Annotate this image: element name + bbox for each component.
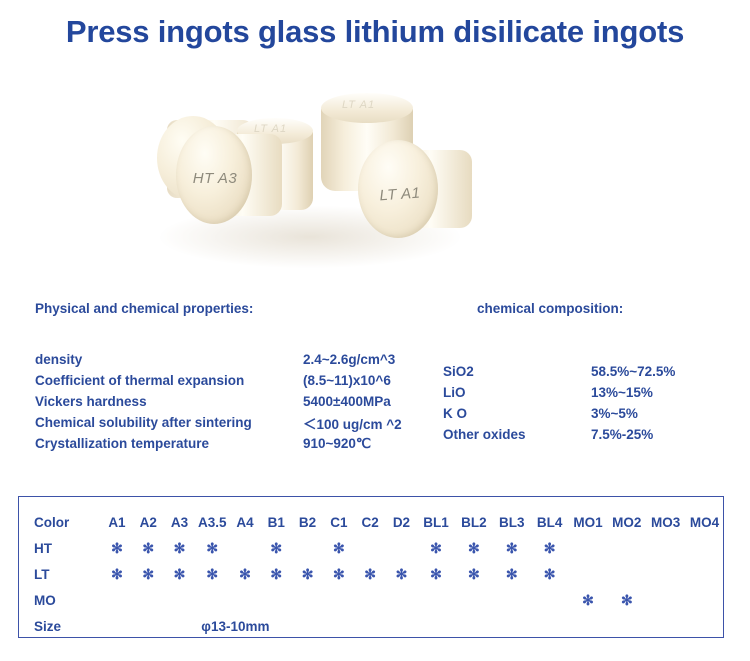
color-row-label-ht: HT <box>30 535 101 561</box>
asterisk-icon: ✻ <box>239 566 251 582</box>
table-row: density 2.4~2.6g/cm^3 <box>35 349 402 370</box>
availability-empty <box>646 587 685 613</box>
color-row-label-mo: MO <box>30 587 101 613</box>
availability-mark: ✻ <box>455 535 493 561</box>
properties-table: density 2.4~2.6g/cm^3 Coefficient of the… <box>35 349 402 454</box>
asterisk-icon: ✻ <box>364 566 376 582</box>
availability-empty <box>685 587 724 613</box>
color-column-header-mo2: MO2 <box>607 509 646 535</box>
availability-mark: ✻ <box>531 535 569 561</box>
availability-empty <box>355 587 386 613</box>
color-row-label-lt: LT <box>30 561 101 587</box>
availability-mark: ✻ <box>292 561 323 587</box>
color-column-header-b1: B1 <box>261 509 292 535</box>
availability-empty <box>493 587 531 613</box>
asterisk-icon: ✻ <box>468 566 480 582</box>
table-row: Other oxides 7.5%-25% <box>443 424 675 445</box>
availability-empty <box>569 535 608 561</box>
availability-mark: ✻ <box>101 535 132 561</box>
asterisk-icon: ✻ <box>206 540 218 556</box>
color-column-header-b2: B2 <box>292 509 323 535</box>
availability-mark: ✻ <box>229 561 260 587</box>
composition-heading: chemical composition: <box>477 301 623 316</box>
availability-empty <box>164 587 195 613</box>
property-name: Coefficient of thermal expansion <box>35 370 303 391</box>
asterisk-icon: ✻ <box>174 566 186 582</box>
composition-name: Other oxides <box>443 424 591 445</box>
asterisk-icon: ✻ <box>544 540 556 556</box>
availability-empty <box>531 587 569 613</box>
availability-mark: ✻ <box>195 535 229 561</box>
table-row: Vickers hardness 5400±400MPa <box>35 391 402 412</box>
table-row: K O 3%~5% <box>443 403 675 424</box>
color-column-header-a2: A2 <box>133 509 164 535</box>
composition-value: 58.5%~72.5% <box>591 361 675 382</box>
asterisk-icon: ✻ <box>270 566 282 582</box>
ingot-lt-a1: LT A1 <box>358 140 478 245</box>
availability-empty <box>455 587 493 613</box>
availability-empty <box>229 587 260 613</box>
page-title: Press ingots glass lithium disilicate in… <box>0 14 750 50</box>
asterisk-icon: ✻ <box>302 566 314 582</box>
availability-mark: ✻ <box>455 561 493 587</box>
availability-empty <box>195 587 229 613</box>
availability-mark: ✻ <box>133 535 164 561</box>
ingot-label-ht-a3: HT A3 <box>184 170 246 187</box>
asterisk-icon: ✻ <box>621 592 633 608</box>
availability-empty <box>646 561 685 587</box>
color-column-header-mo3: MO3 <box>646 509 685 535</box>
property-name: Chemical solubility after sintering <box>35 412 303 433</box>
color-column-header-mo1: MO1 <box>569 509 608 535</box>
composition-name: SiO2 <box>443 361 591 382</box>
availability-empty <box>355 535 386 561</box>
property-name: Vickers hardness <box>35 391 303 412</box>
table-row: HT✻✻✻✻✻✻✻✻✻✻ <box>30 535 724 561</box>
availability-empty <box>607 535 646 561</box>
property-value: 5400±400MPa <box>303 391 402 412</box>
availability-mark: ✻ <box>569 587 608 613</box>
availability-empty <box>386 587 417 613</box>
size-row: Sizeφ13-10mm <box>30 613 724 639</box>
product-photo: LT A1 LT A1 HT A3 LT A1 <box>150 88 480 283</box>
color-column-header-a4: A4 <box>229 509 260 535</box>
property-name: density <box>35 349 303 370</box>
availability-mark: ✻ <box>323 561 354 587</box>
table-row: LT✻✻✻✻✻✻✻✻✻✻✻✻✻✻ <box>30 561 724 587</box>
composition-value: 3%~5% <box>591 403 675 424</box>
table-row: LiO 13%~15% <box>443 382 675 403</box>
asterisk-icon: ✻ <box>333 566 345 582</box>
asterisk-icon: ✻ <box>506 540 518 556</box>
property-name: Crystallization temperature <box>35 433 303 454</box>
availability-empty <box>292 535 323 561</box>
asterisk-icon: ✻ <box>468 540 480 556</box>
properties-heading: Physical and chemical properties: <box>35 301 253 316</box>
availability-empty <box>646 535 685 561</box>
availability-empty <box>607 561 646 587</box>
availability-mark: ✻ <box>417 561 455 587</box>
size-label: Size <box>30 613 101 639</box>
availability-empty <box>386 535 417 561</box>
availability-mark: ✻ <box>164 561 195 587</box>
asterisk-icon: ✻ <box>111 566 123 582</box>
color-column-header-bl3: BL3 <box>493 509 531 535</box>
availability-mark: ✻ <box>531 561 569 587</box>
availability-mark: ✻ <box>607 587 646 613</box>
availability-mark: ✻ <box>164 535 195 561</box>
composition-name: LiO <box>443 382 591 403</box>
asterisk-icon: ✻ <box>544 566 556 582</box>
availability-empty <box>569 561 608 587</box>
property-value: 910~920℃ <box>303 433 402 454</box>
color-column-header-bl4: BL4 <box>531 509 569 535</box>
availability-mark: ✻ <box>417 535 455 561</box>
availability-empty <box>685 561 724 587</box>
asterisk-icon: ✻ <box>142 540 154 556</box>
asterisk-icon: ✻ <box>582 592 594 608</box>
ingot-faint-label: LT A1 <box>342 99 375 111</box>
table-row: Coefficient of thermal expansion (8.5~11… <box>35 370 402 391</box>
asterisk-icon: ✻ <box>111 540 123 556</box>
table-row: Crystallization temperature 910~920℃ <box>35 433 402 454</box>
color-column-header-d2: D2 <box>386 509 417 535</box>
availability-mark: ✻ <box>195 561 229 587</box>
property-value: ＜100 ug/cm ^2 <box>303 412 402 433</box>
color-column-header-bl1: BL1 <box>417 509 455 535</box>
color-column-header-a1: A1 <box>101 509 132 535</box>
color-availability-table: ColorA1A2A3A3.5A4B1B2C1C2D2BL1BL2BL3BL4M… <box>30 509 724 639</box>
table-row: Chemical solubility after sintering ＜100… <box>35 412 402 433</box>
asterisk-icon: ✻ <box>333 540 345 556</box>
asterisk-icon: ✻ <box>430 566 442 582</box>
color-column-header-a3-5: A3.5 <box>195 509 229 535</box>
color-table-corner-label: Color <box>30 509 101 535</box>
asterisk-icon: ✻ <box>270 540 282 556</box>
availability-empty <box>292 587 323 613</box>
asterisk-icon: ✻ <box>142 566 154 582</box>
availability-empty <box>101 587 132 613</box>
color-column-header-c1: C1 <box>323 509 354 535</box>
availability-mark: ✻ <box>261 561 292 587</box>
availability-empty <box>685 535 724 561</box>
availability-mark: ✻ <box>101 561 132 587</box>
color-table-header-row: ColorA1A2A3A3.5A4B1B2C1C2D2BL1BL2BL3BL4M… <box>30 509 724 535</box>
availability-empty <box>229 535 260 561</box>
availability-mark: ✻ <box>493 561 531 587</box>
color-table: ColorA1A2A3A3.5A4B1B2C1C2D2BL1BL2BL3BL4M… <box>18 496 724 638</box>
availability-empty <box>417 587 455 613</box>
asterisk-icon: ✻ <box>174 540 186 556</box>
availability-mark: ✻ <box>323 535 354 561</box>
composition-table: SiO2 58.5%~72.5% LiO 13%~15% K O 3%~5% O… <box>443 361 675 445</box>
availability-empty <box>323 587 354 613</box>
availability-mark: ✻ <box>355 561 386 587</box>
table-row: MO✻✻ <box>30 587 724 613</box>
availability-empty <box>261 587 292 613</box>
property-value: 2.4~2.6g/cm^3 <box>303 349 402 370</box>
color-column-header-c2: C2 <box>355 509 386 535</box>
composition-name: K O <box>443 403 591 424</box>
table-row: SiO2 58.5%~72.5% <box>443 361 675 382</box>
ingot-ht-a3: HT A3 <box>176 126 288 226</box>
availability-mark: ✻ <box>261 535 292 561</box>
color-column-header-mo4: MO4 <box>685 509 724 535</box>
size-value: φ13-10mm <box>101 613 724 639</box>
composition-value: 7.5%-25% <box>591 424 675 445</box>
availability-mark: ✻ <box>133 561 164 587</box>
property-value: (8.5~11)x10^6 <box>303 370 402 391</box>
composition-value: 13%~15% <box>591 382 675 403</box>
asterisk-icon: ✻ <box>430 540 442 556</box>
asterisk-icon: ✻ <box>506 566 518 582</box>
availability-mark: ✻ <box>493 535 531 561</box>
color-column-header-bl2: BL2 <box>455 509 493 535</box>
color-column-header-a3: A3 <box>164 509 195 535</box>
asterisk-icon: ✻ <box>396 566 408 582</box>
availability-mark: ✻ <box>386 561 417 587</box>
availability-empty <box>133 587 164 613</box>
asterisk-icon: ✻ <box>206 566 218 582</box>
